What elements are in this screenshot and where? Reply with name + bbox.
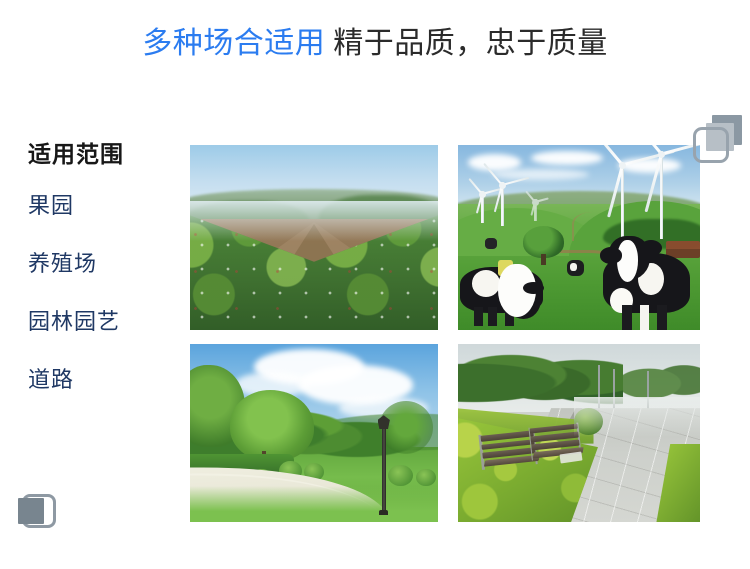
cloud [468,154,521,171]
cow-face-blaze [617,240,638,282]
wind-turbine [499,182,506,226]
turbine-hub [658,151,665,158]
photo-orchard [190,145,438,330]
cow-ear [640,240,663,256]
sidebar-item-road: 道路 [28,369,178,391]
scope-list-heading: 适用范围 [28,143,178,166]
filled-square-icon [18,498,44,524]
sidebar-item-farm: 养殖场 [28,253,178,275]
wind-turbine [656,151,666,240]
promo-banner: 多种场合适用精于品质，忠于质量 适用范围 果园 养殖场 园林园艺 道路 [0,0,750,569]
outlined-square-icon [693,127,729,163]
bottom-left-squares-decoration [18,490,62,534]
scope-list: 适用范围 果园 养殖场 园林园艺 道路 [28,143,178,391]
cloud [492,169,589,180]
page-title-highlight: 多种场合适用 [142,27,325,60]
wind-turbine [480,191,486,222]
sidebar-item-orchard: 果园 [28,195,178,217]
turbine-hub [532,199,539,206]
sidebar-item-landscaping: 园林园艺 [28,311,178,333]
photo-livestock-farm [458,145,700,330]
cow-foreground-right [603,234,690,330]
cow-leg [640,305,650,330]
wind-turbine [533,199,538,221]
cow-leg [657,305,667,330]
lamp-post [382,422,385,511]
turbine-hub [619,162,626,169]
distance-haze [574,397,700,436]
cow-foreground-left [460,252,542,326]
cow-ear [600,247,623,263]
page-title: 多种场合适用精于品质，忠于质量 [0,18,750,62]
tree-center [230,390,314,461]
page-title-rest: 精于品质，忠于质量 [333,27,608,60]
cow-patch [472,270,500,297]
shrub [416,469,436,487]
photo-grid [190,145,700,522]
morning-haze [190,201,438,242]
cow-leg [488,307,497,326]
photo-roadside [458,344,700,522]
cow-distant [485,238,497,249]
cow-leg [622,305,632,330]
turbine-hub [479,191,486,198]
lamp-base [379,510,389,515]
cow-midground [567,260,584,277]
cow-leg [474,307,483,326]
lawn-foreground [190,486,438,522]
turbine-hub [499,182,506,189]
photo-garden-park [190,344,438,522]
top-right-squares-decoration [690,115,742,167]
